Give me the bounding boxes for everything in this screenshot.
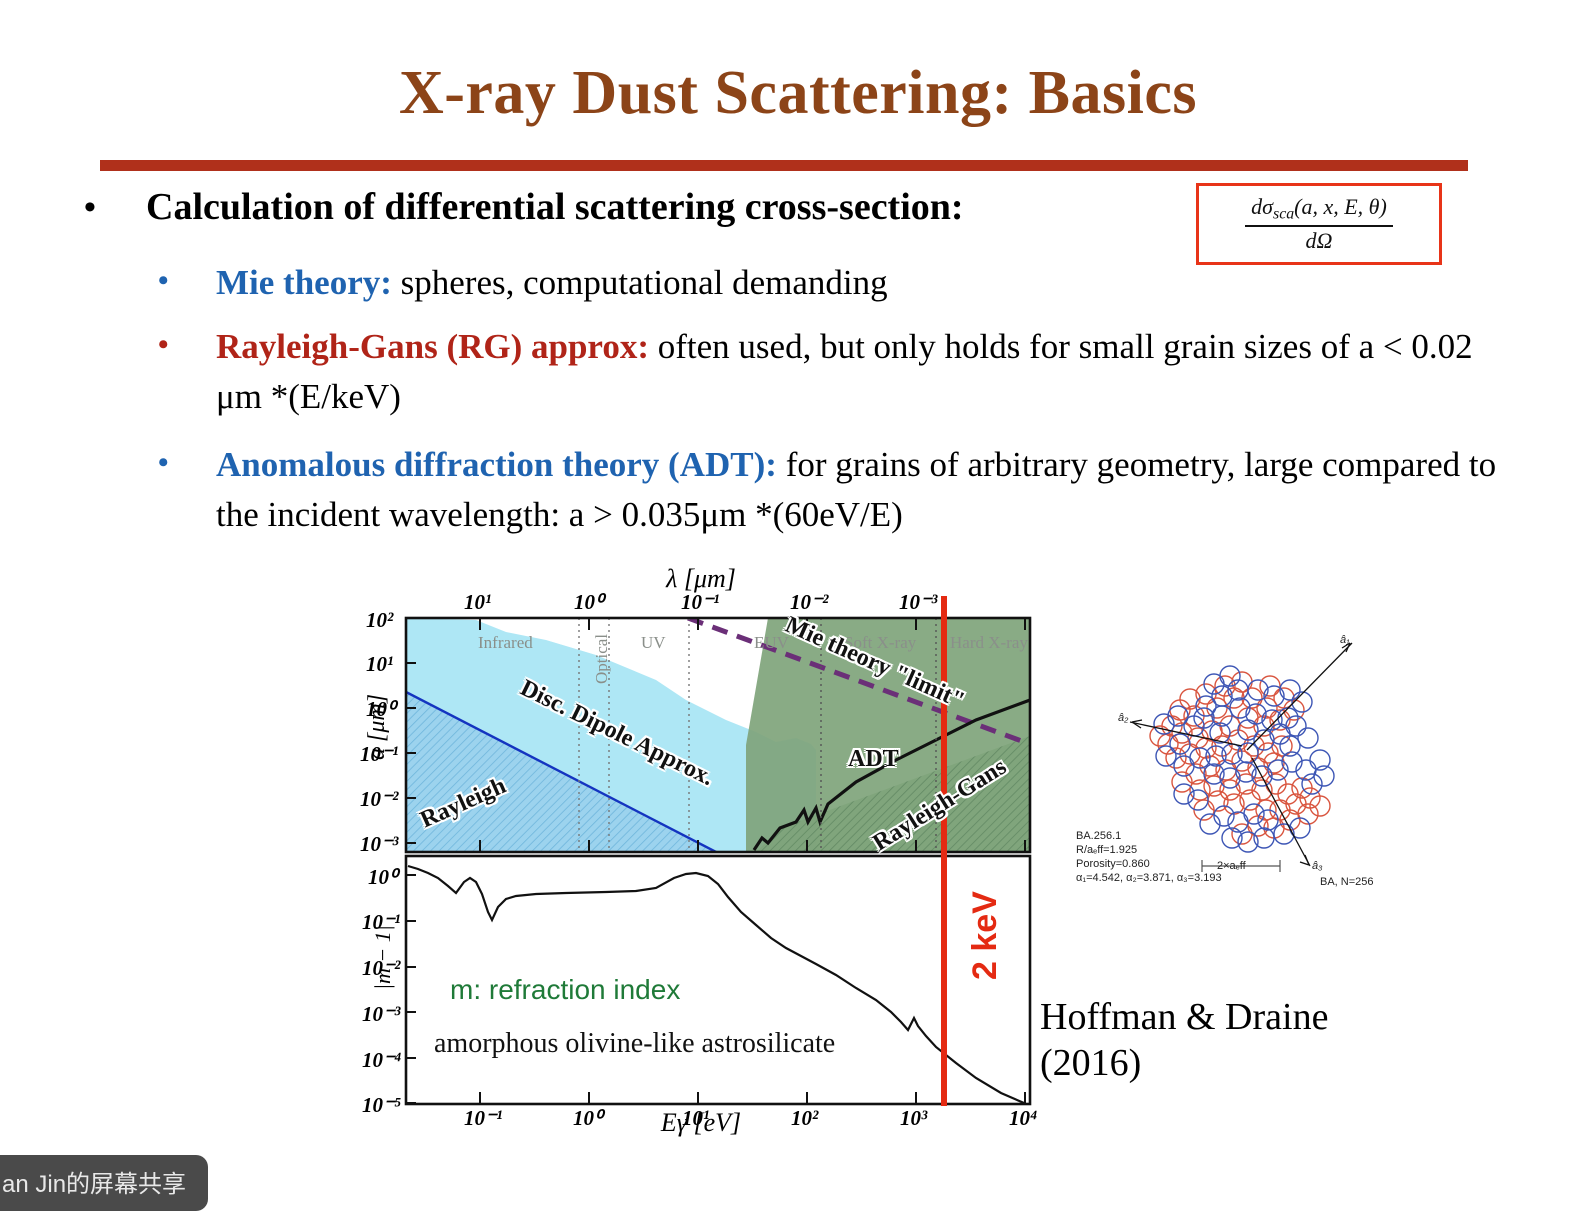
formula-numerator-args: (a, x, E, θ) bbox=[1294, 194, 1387, 219]
grain-axis-label-3: â₃ bbox=[1312, 860, 1322, 872]
band-label-infrared: Infrared bbox=[478, 633, 533, 653]
main-bullet-text: Calculation of differential scattering c… bbox=[146, 186, 964, 230]
sub-bullet-adt: • Anomalous diffraction theory (ADT): fo… bbox=[158, 440, 1506, 539]
grain-corner-label: BA, N=256 bbox=[1320, 876, 1374, 888]
band-label-optical: Optical bbox=[592, 634, 612, 684]
sub-bullet-lead: Anomalous diffraction theory (ADT): bbox=[216, 445, 777, 484]
sub-bullet-text: Rayleigh-Gans (RG) approx: often used, b… bbox=[216, 322, 1506, 421]
formula-denominator: dΩ bbox=[1245, 227, 1393, 252]
screen-share-indicator: an Jin的屏幕共享 bbox=[0, 1155, 208, 1211]
formula-numerator: dσsca(a, x, E, θ) bbox=[1245, 195, 1393, 227]
grain-spheres bbox=[1150, 666, 1334, 852]
page-title: X-ray Dust Scattering: Basics bbox=[0, 58, 1596, 129]
formula-numerator-subscript: sca bbox=[1273, 206, 1294, 223]
bullet-marker: • bbox=[158, 440, 216, 539]
band-label-uv: UV bbox=[641, 633, 666, 653]
grain-scalebar-label: 2×aₑff bbox=[1217, 860, 1246, 872]
grain-caption-ratio: R/aₑff=1.925 bbox=[1076, 844, 1137, 856]
citation-line-2: (2016) bbox=[1040, 1040, 1328, 1086]
sub-bullet-lead: Rayleigh-Gans (RG) approx: bbox=[216, 327, 649, 366]
grain-axis-label-2: â₂ bbox=[1118, 712, 1128, 724]
upper-panel-regions bbox=[406, 618, 1046, 853]
regime-diagram-figure: λ [μm] 10¹ 10⁰ 10⁻¹ 10⁻² 10⁻³ 10² 10¹ 10… bbox=[356, 560, 1046, 1140]
bullet-marker: • bbox=[84, 186, 146, 230]
sub-bullet-rest: spheres, computational demanding bbox=[392, 263, 888, 302]
two-kev-label: 2 keV bbox=[966, 891, 1005, 980]
sub-bullet-rayleigh-gans: • Rayleigh-Gans (RG) approx: often used,… bbox=[158, 322, 1506, 421]
grain-aggregate-figure: â₁ â₂ â₃ BA.256.1 R/aₑff=1.925 Porosity=… bbox=[1062, 598, 1410, 900]
citation-line-1: Hoffman & Draine bbox=[1040, 994, 1328, 1040]
bullet-marker: • bbox=[158, 258, 216, 308]
annotation-astrosilicate: amorphous olivine-like astrosilicate bbox=[434, 1028, 835, 1060]
title-divider bbox=[100, 160, 1468, 171]
main-bullet: • Calculation of differential scattering… bbox=[84, 186, 1224, 230]
annotation-refraction-index: m: refraction index bbox=[450, 974, 680, 1006]
sub-bullet-text: Anomalous diffraction theory (ADT): for … bbox=[216, 440, 1506, 539]
sub-bullet-text: Mie theory: spheres, computational deman… bbox=[216, 258, 1488, 308]
formula-numerator-main: dσ bbox=[1251, 194, 1273, 219]
band-label-hard-xray: Hard X-ray bbox=[950, 633, 1028, 653]
grain-caption-alphas: α₁=4.542, α₂=3.871, α₃=3.193 bbox=[1076, 872, 1222, 884]
figure-citation: Hoffman & Draine (2016) bbox=[1040, 994, 1328, 1087]
region-label-adt: ADT bbox=[848, 746, 899, 773]
grain-axis-label-1: â₁ bbox=[1340, 634, 1350, 646]
sub-bullet-mie-theory: • Mie theory: spheres, computational dem… bbox=[158, 258, 1488, 308]
bullet-marker: • bbox=[158, 322, 216, 421]
grain-caption-id: BA.256.1 bbox=[1076, 830, 1121, 842]
cross-section-formula-box: dσsca(a, x, E, θ) dΩ bbox=[1196, 183, 1442, 265]
cross-section-formula: dσsca(a, x, E, θ) dΩ bbox=[1245, 195, 1393, 252]
grain-caption-porosity: Porosity=0.860 bbox=[1076, 858, 1150, 870]
sub-bullet-lead: Mie theory: bbox=[216, 263, 392, 302]
